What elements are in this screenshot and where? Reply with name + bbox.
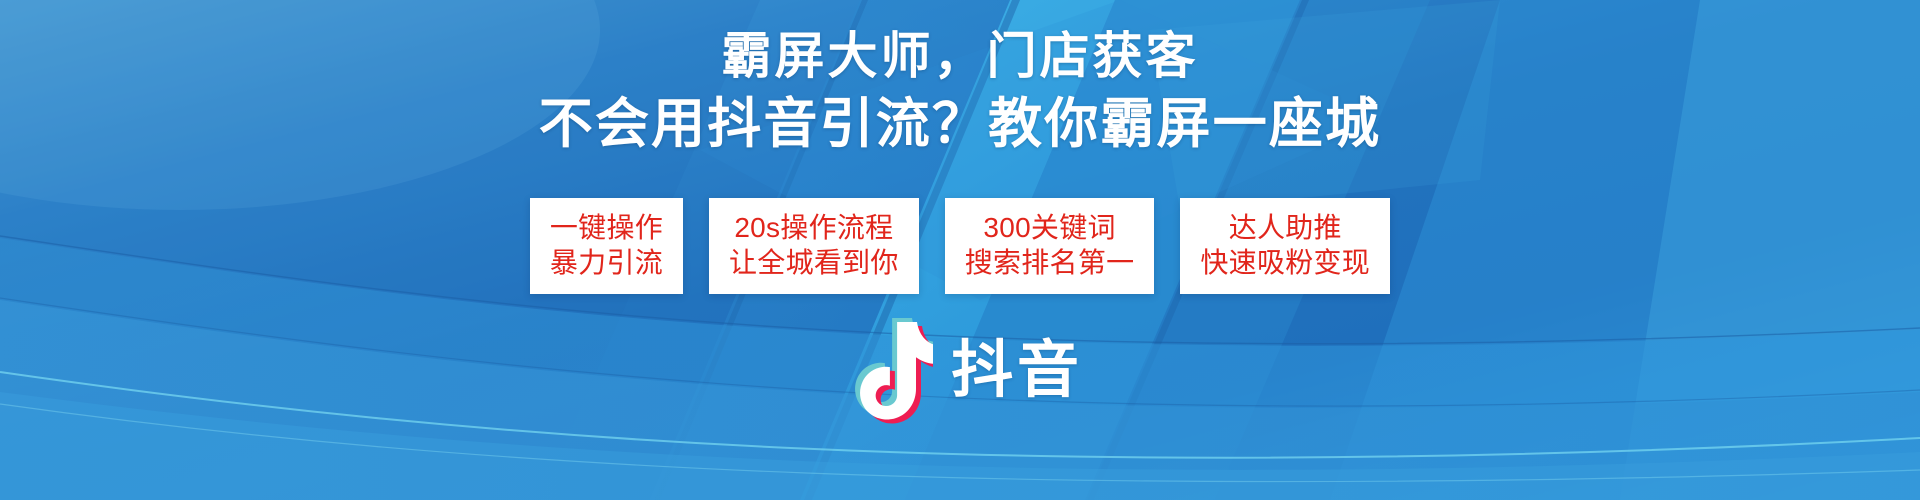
feature-line-1: 300关键词 [965, 210, 1135, 245]
brand-name-label: 抖音 [951, 340, 1082, 402]
feature-box-row: 一键操作 暴力引流 20s操作流程 让全城看到你 300关键词 搜索排名第一 达… [0, 198, 1920, 294]
feature-box-20s-flow[interactable]: 20s操作流程 让全城看到你 [709, 198, 919, 294]
feature-box-influencer-boost[interactable]: 达人助推 快速吸粉变现 [1180, 198, 1390, 294]
douyin-logo-svg [837, 318, 933, 424]
headline-primary: 霸屏大师，门店获客 [0, 26, 1920, 86]
feature-line-1: 20s操作流程 [729, 210, 899, 245]
feature-box-300-keywords[interactable]: 300关键词 搜索排名第一 [945, 198, 1155, 294]
feature-box-one-key[interactable]: 一键操作 暴力引流 [530, 198, 683, 294]
feature-line-2: 搜索排名第一 [965, 245, 1135, 280]
feature-line-1: 达人助推 [1200, 210, 1370, 245]
feature-line-2: 暴力引流 [550, 245, 663, 280]
promo-banner: 霸屏大师，门店获客 不会用抖音引流？教你霸屏一座城 一键操作 暴力引流 20s操… [0, 0, 1920, 500]
feature-line-1: 一键操作 [550, 210, 663, 245]
brand-lockup: 抖音 [0, 318, 1920, 424]
banner-content: 霸屏大师，门店获客 不会用抖音引流？教你霸屏一座城 一键操作 暴力引流 20s操… [0, 0, 1920, 500]
feature-line-2: 让全城看到你 [729, 245, 899, 280]
douyin-music-note-icon [837, 318, 933, 424]
headline-secondary: 不会用抖音引流？教你霸屏一座城 [0, 92, 1920, 156]
feature-line-2: 快速吸粉变现 [1200, 245, 1370, 280]
